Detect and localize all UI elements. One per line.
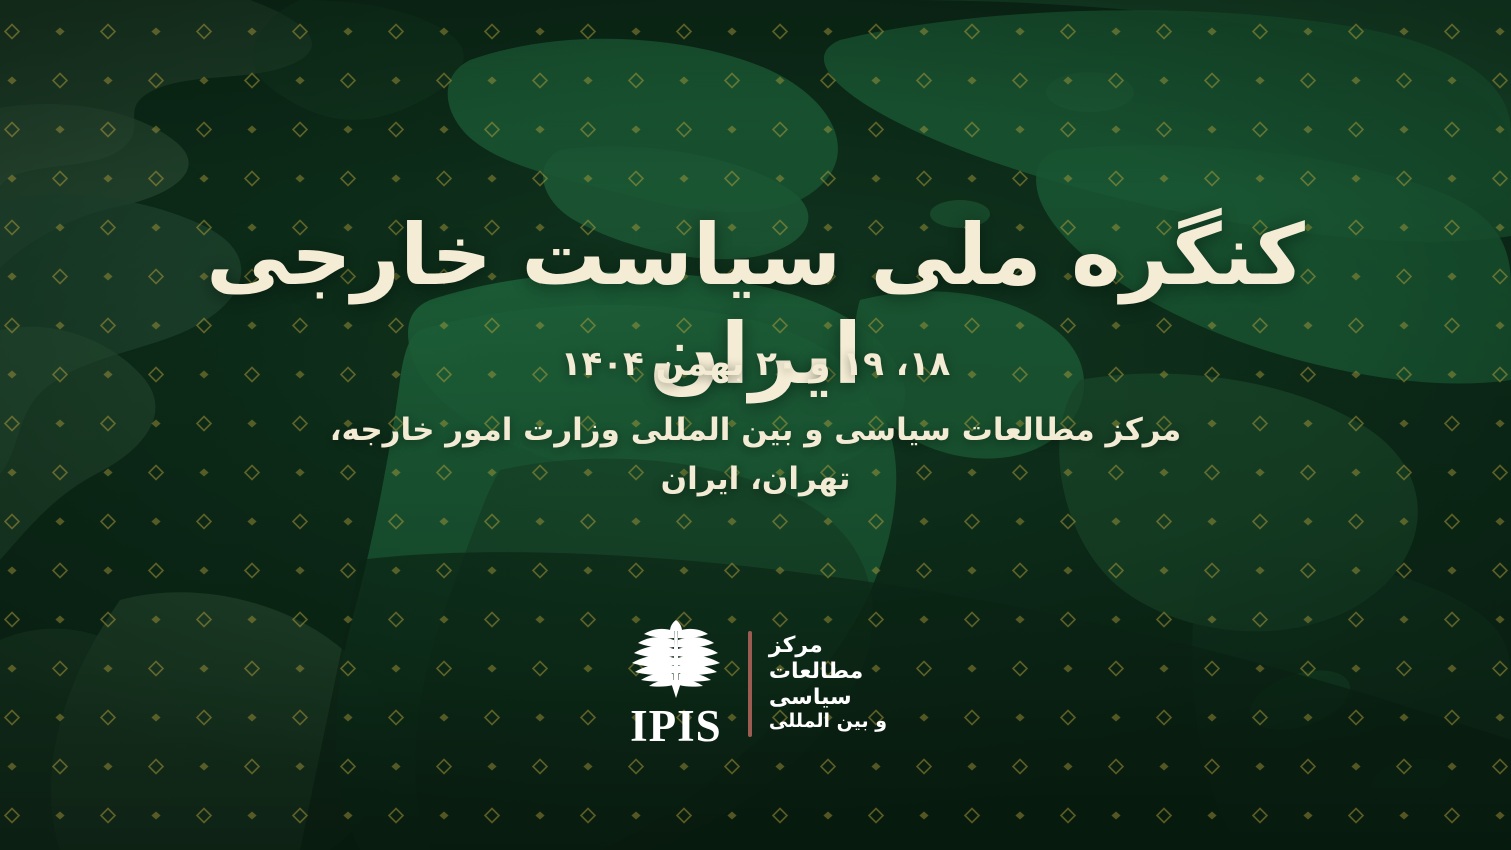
banner-canvas: کنگره ملی سیاست خارجی ایران ۱۸، ۱۹ و ۲۰ … <box>0 0 1511 850</box>
venue-line-city: تهران، ایران <box>150 455 1361 504</box>
logo-emblem-group: IPIS <box>624 618 748 749</box>
logo-word-1: مرکز <box>769 634 823 659</box>
logo-word-2: مطالعات <box>769 660 863 685</box>
event-date: ۱۸، ۱۹ و ۲۰ بهمن ۱۴۰۴ <box>0 344 1511 384</box>
event-venue: مرکز مطالعات سیاسی و بین المللی وزارت ام… <box>0 406 1511 504</box>
logo-divider <box>748 631 752 737</box>
ipis-logo-lockup: مرکز مطالعات سیاسی و بین المللی <box>0 618 1511 749</box>
venue-line-institute: مرکز مطالعات سیاسی و بین المللی وزارت ام… <box>150 406 1361 455</box>
logo-word-3: سیاسی <box>769 686 852 711</box>
logo-acronym: IPIS <box>630 704 722 749</box>
logo-word-4: و بین المللی <box>769 711 887 732</box>
palm-tree-icon <box>624 618 728 702</box>
logo-persian-wordmark: مرکز مطالعات سیاسی و بین المللی <box>752 630 887 738</box>
banner-content: کنگره ملی سیاست خارجی ایران ۱۸، ۱۹ و ۲۰ … <box>0 0 1511 850</box>
